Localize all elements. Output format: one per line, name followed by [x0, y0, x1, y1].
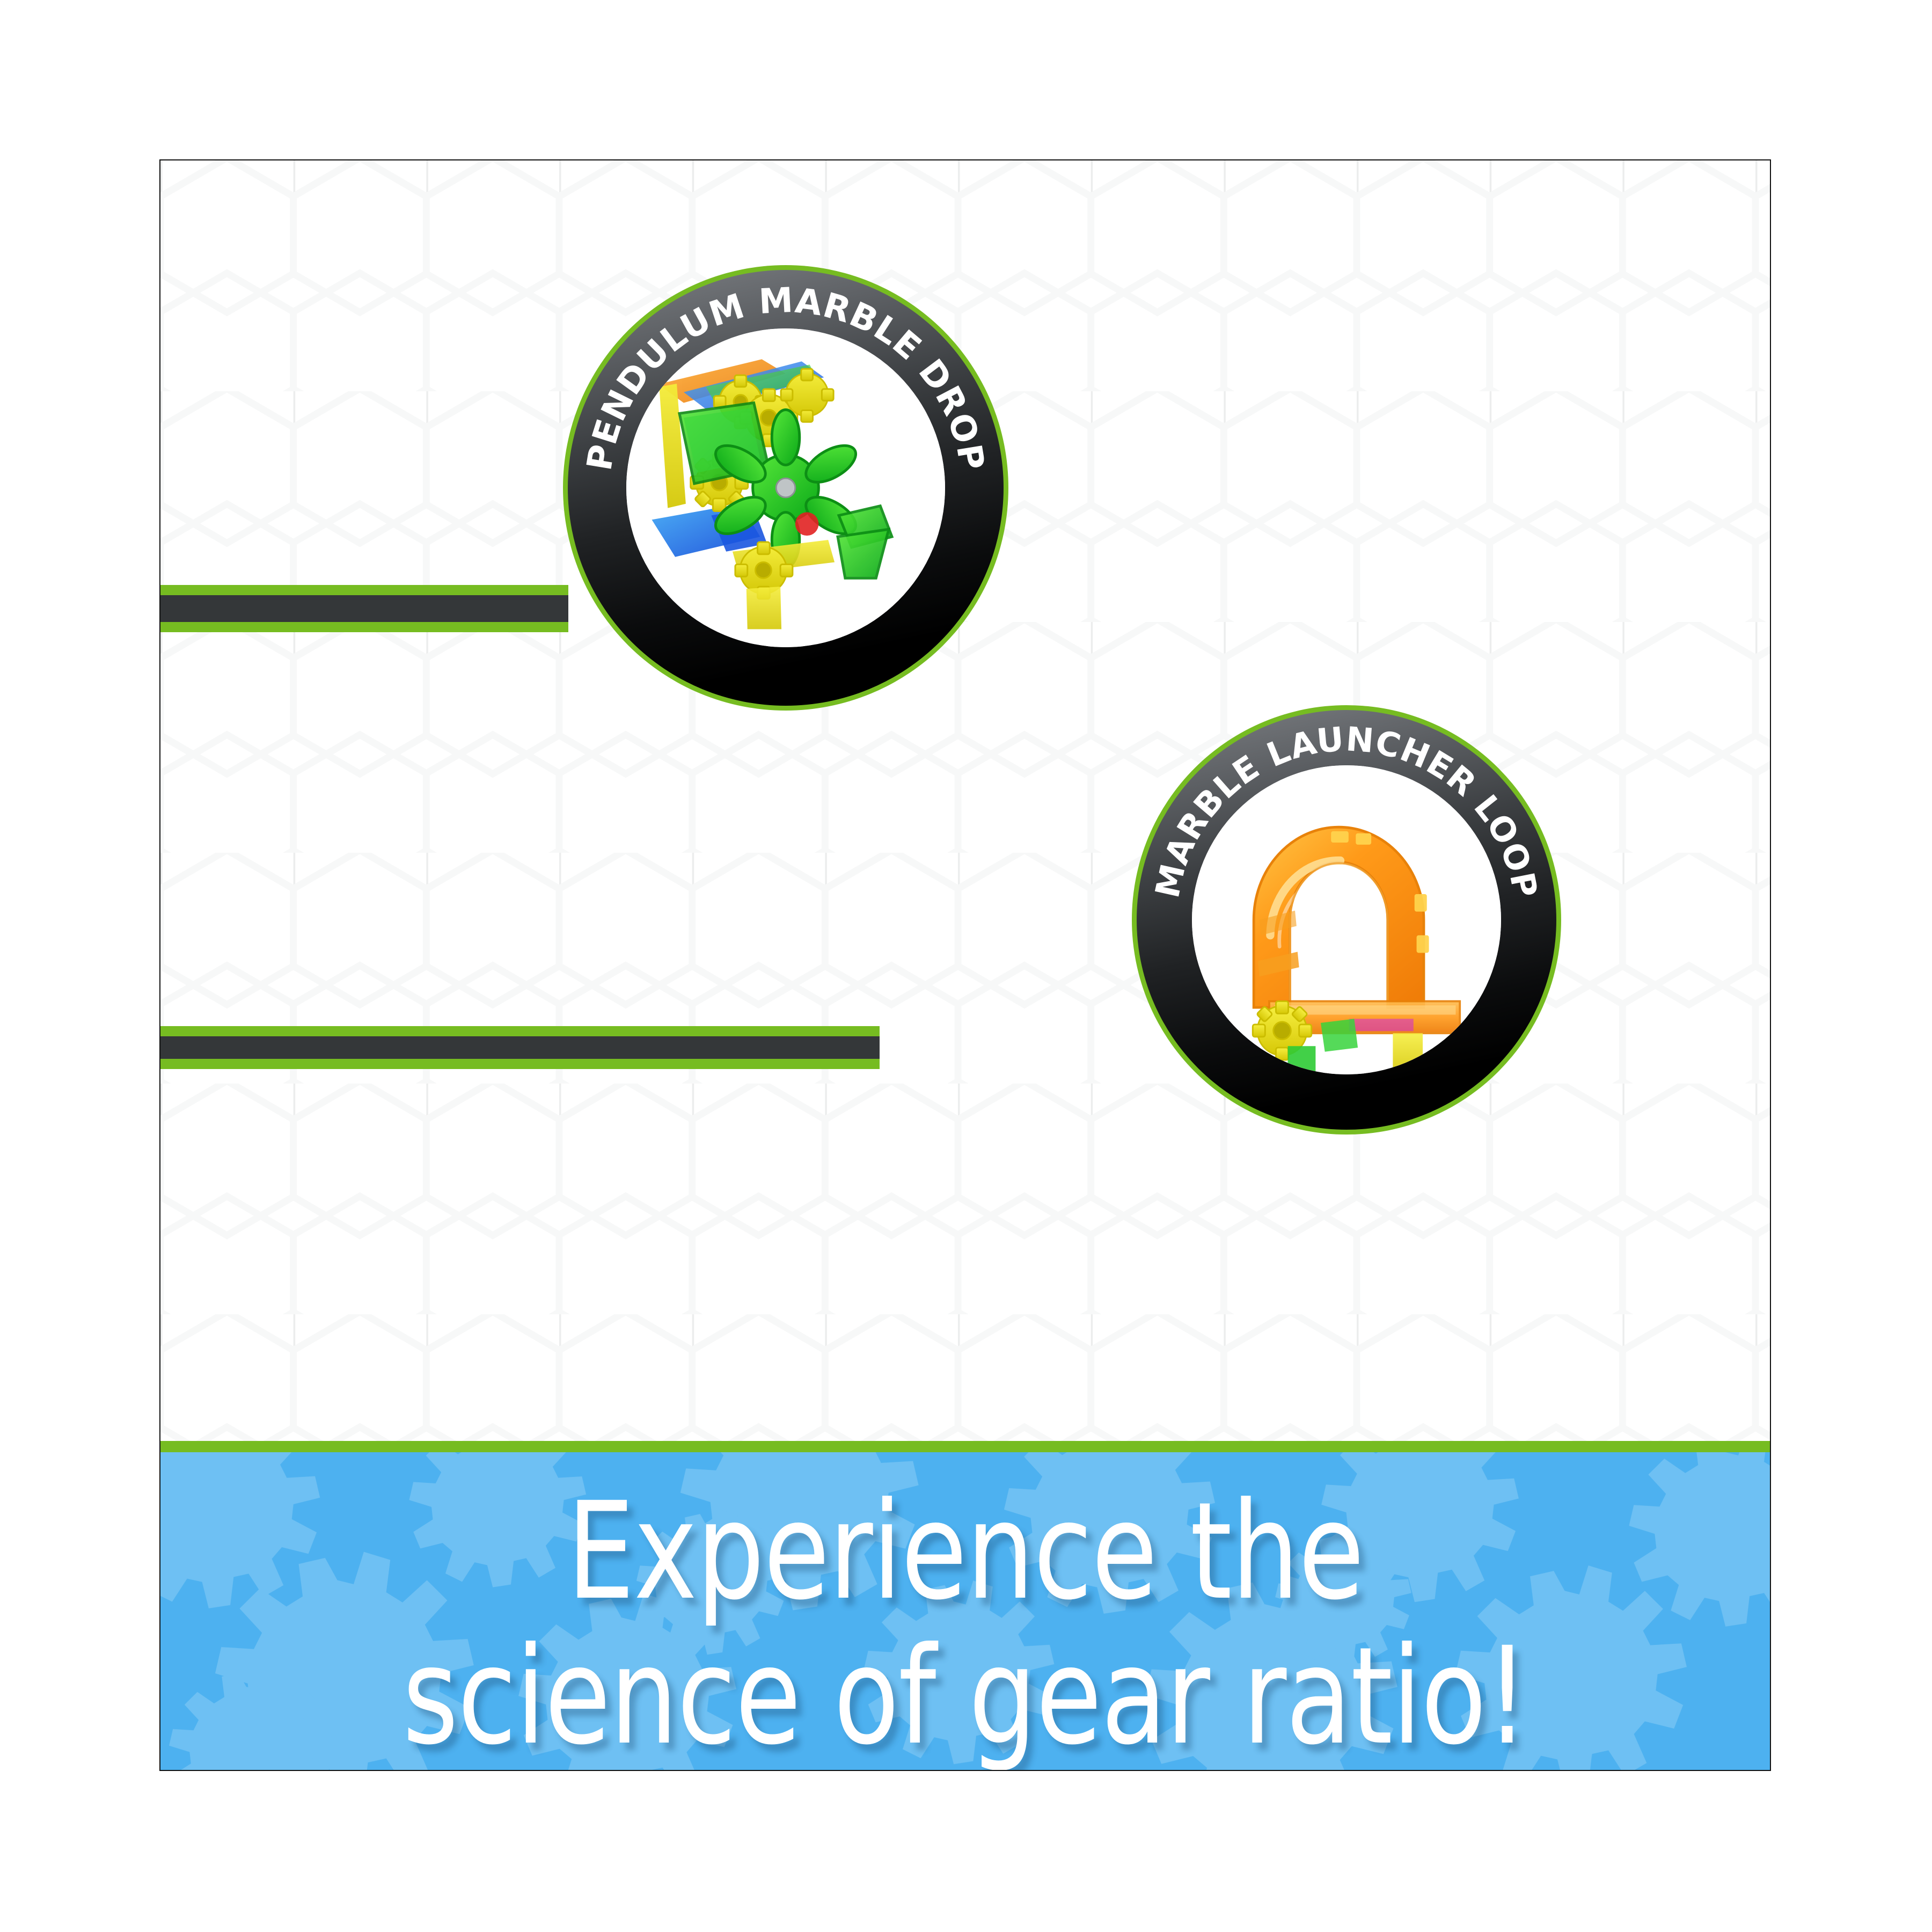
connector-line-1-edge-bottom [160, 622, 568, 632]
badge-1-arc-label: PENDULUM MARBLE DROP [563, 265, 1008, 711]
badge-1-label-text: PENDULUM MARBLE DROP [580, 281, 991, 473]
connector-line-1-core [160, 595, 568, 622]
badge-2-label-text: MARBLE LAUNCHER LOOP [1147, 719, 1545, 901]
connector-line-2-core [160, 1036, 880, 1059]
tagline-headline: Experience the science of gear ratio! [321, 1479, 1609, 1769]
connector-line-1-edge-top [160, 585, 568, 595]
tagline-line-2: science of gear ratio! [321, 1624, 1609, 1769]
badge-2-arc-label: MARBLE LAUNCHER LOOP [1132, 705, 1561, 1135]
badge-pendulum-marble-drop[interactable]: PENDULUM MARBLE DROP [563, 265, 1008, 711]
tagline-line-1: Experience the [321, 1479, 1609, 1624]
connector-line-2 [160, 1026, 880, 1069]
tagline-banner: Experience the science of gear ratio! [160, 1452, 1770, 1770]
banner-green-strip [160, 1441, 1770, 1452]
poster-card: PENDULUM MARBLE DROP [159, 159, 1771, 1771]
badge-marble-launcher-loop[interactable]: MARBLE LAUNCHER LOOP [1132, 705, 1561, 1135]
connector-line-1 [160, 585, 568, 632]
connector-line-2-edge-top [160, 1026, 880, 1036]
product-feature-poster: PENDULUM MARBLE DROP [0, 0, 1932, 1932]
connector-line-2-edge-bottom [160, 1059, 880, 1069]
